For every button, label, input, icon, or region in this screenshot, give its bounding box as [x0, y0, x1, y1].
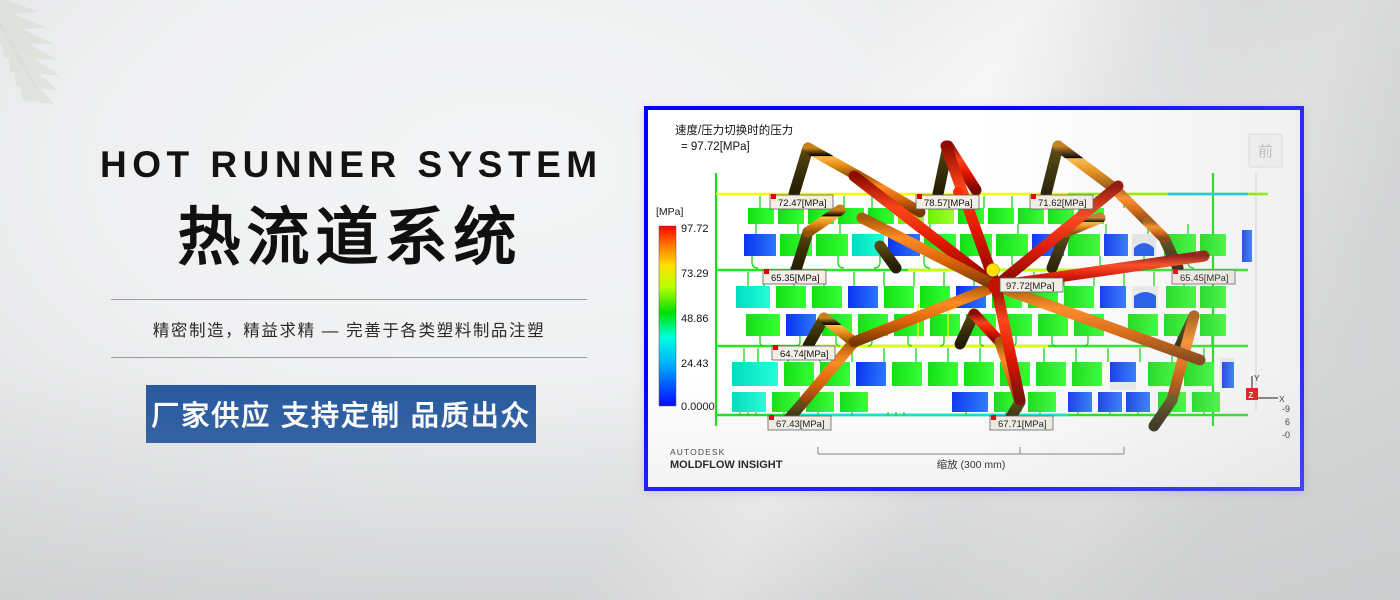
colorbar-tick-0: 97.72	[681, 223, 709, 235]
probe-callout: 67.71[MPa]	[990, 415, 1053, 430]
brand-autodesk: AUTODESK	[670, 447, 725, 457]
probe-callout: 67.43[MPa]	[768, 415, 831, 430]
cta-banner[interactable]: 厂家供应 支持定制 品质出众	[146, 385, 536, 443]
axis-label-y: Y	[1254, 373, 1260, 383]
axis-readout-0: -9	[1282, 404, 1290, 414]
probe-callout: 72.47[MPa]	[770, 194, 833, 209]
probe-value: 97.72[MPa]	[1006, 281, 1055, 292]
colorbar-tick-4: 0.0000	[681, 401, 715, 413]
result-title-line2: = 97.72[MPa]	[681, 141, 750, 153]
view-orientation-label: 前	[1258, 143, 1273, 160]
probe-value: 78.57[MPa]	[924, 198, 973, 209]
probe-callout: 64.74[MPa]	[772, 345, 835, 360]
moldflow-simulation-panel[interactable]: [MPa] 97.72 73.29 48.86 24.43 0.0000 速度/…	[644, 106, 1304, 491]
simulation-canvas: [MPa] 97.72 73.29 48.86 24.43 0.0000 速度/…	[648, 110, 1300, 487]
probe-value: 72.47[MPa]	[778, 198, 827, 209]
probe-callout: 71.62[MPa]	[1030, 194, 1093, 209]
divider-bottom	[111, 357, 587, 358]
subtitle-text: 精密制造，精益求精 — 完善于各类塑料制品注塑	[111, 300, 587, 357]
probe-value: 65.35[MPa]	[771, 273, 820, 284]
probe-callout: 97.72[MPa]	[1000, 278, 1063, 292]
axis-readout-1: 6	[1285, 417, 1290, 427]
colorbar-unit-label: [MPa]	[656, 206, 684, 218]
probe-callout: 78.57[MPa]	[916, 194, 979, 209]
page-title-cn: 热流道系统	[100, 205, 600, 272]
probe-value: 67.71[MPa]	[998, 419, 1047, 430]
simulation-viewport: [MPa] 97.72 73.29 48.86 24.43 0.0000 速度/…	[648, 110, 1300, 487]
headline-block: HOT RUNNER SYSTEM 热流道系统 精密制造，精益求精 — 完善于各…	[100, 146, 600, 443]
probe-value: 67.43[MPa]	[776, 419, 825, 430]
subtitle-group: 精密制造，精益求精 — 完善于各类塑料制品注塑	[111, 299, 587, 358]
result-title-line1: 速度/压力切换时的压力	[675, 123, 793, 137]
view-orientation-button[interactable]: 前	[1249, 134, 1282, 167]
promo-banner: HOT RUNNER SYSTEM 热流道系统 精密制造，精益求精 — 完善于各…	[0, 0, 1400, 600]
axis-readout-2: -0	[1282, 430, 1290, 440]
axis-label-z: Z	[1249, 391, 1254, 400]
probe-value: 64.74[MPa]	[780, 349, 829, 360]
probe-callout: 65.45[MPa]	[1172, 269, 1235, 284]
probe-value: 65.45[MPa]	[1180, 273, 1229, 284]
probe-value: 71.62[MPa]	[1038, 198, 1087, 209]
probe-callout: 65.35[MPa]	[763, 269, 826, 284]
axis-label-x: X	[1279, 394, 1285, 404]
palm-leaf-decoration	[0, 0, 128, 156]
colorbar-tick-2: 48.86	[681, 313, 709, 325]
page-title-en: HOT RUNNER SYSTEM	[100, 146, 600, 183]
colorbar-tick-3: 24.43	[681, 358, 709, 370]
brand-moldflow: MOLDFLOW INSIGHT	[670, 459, 783, 471]
colorbar-gradient	[659, 226, 676, 406]
colorbar-tick-1: 73.29	[681, 268, 709, 280]
scale-bar-label: 缩放 (300 mm)	[937, 458, 1006, 471]
